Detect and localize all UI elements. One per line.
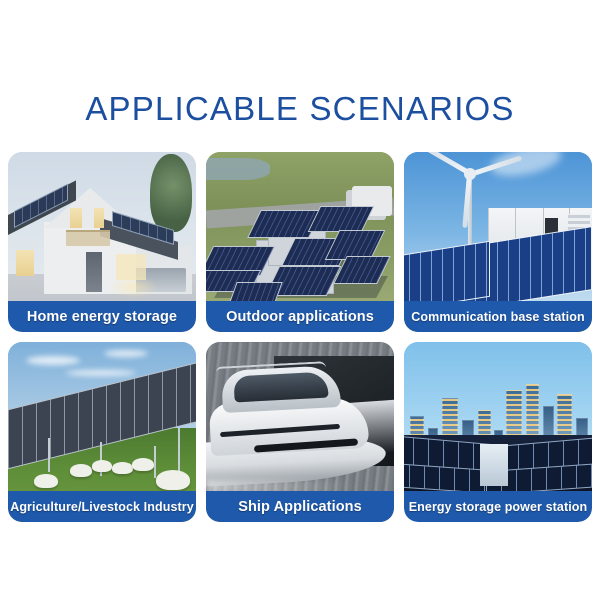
applicable-scenarios-page: APPLICABLE SCENARIOS bbox=[0, 0, 600, 600]
scenario-card-grid: Home energy storage bbox=[8, 152, 592, 522]
card-label-communication-base-station: Communication base station bbox=[404, 301, 592, 332]
card-label-energy-storage-power-station: Energy storage power station bbox=[404, 491, 592, 522]
scenario-card-outdoor-applications[interactable]: Outdoor applications bbox=[206, 152, 394, 332]
scenario-card-ship-applications[interactable]: Ship Applications bbox=[206, 342, 394, 522]
page-title: APPLICABLE SCENARIOS bbox=[0, 0, 600, 125]
card-label-agriculture-livestock-industry: Agriculture/Livestock Industry bbox=[8, 491, 196, 522]
card-label-ship-applications: Ship Applications bbox=[206, 491, 394, 522]
card-label-outdoor-applications: Outdoor applications bbox=[206, 301, 394, 332]
scenario-card-energy-storage-power-station[interactable]: Energy storage power station bbox=[404, 342, 592, 522]
scenario-card-home-energy-storage[interactable]: Home energy storage bbox=[8, 152, 196, 332]
scenario-card-communication-base-station[interactable]: Communication base station bbox=[404, 152, 592, 332]
card-label-home-energy-storage: Home energy storage bbox=[8, 301, 196, 332]
scenario-card-agriculture-livestock-industry[interactable]: Agriculture/Livestock Industry bbox=[8, 342, 196, 522]
